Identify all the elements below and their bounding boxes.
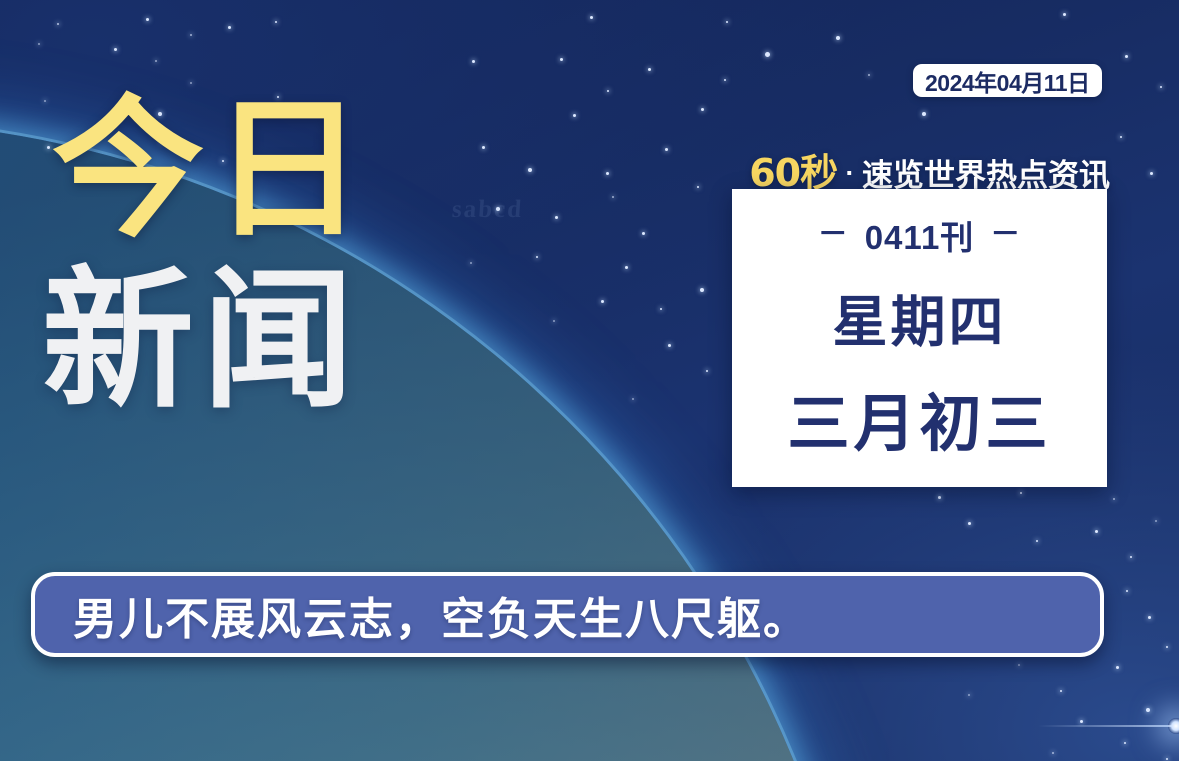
date-info-card: － 0411刊 － 星期四 三月初三 xyxy=(732,189,1107,487)
issue-dash-right: － xyxy=(990,220,1021,250)
brand-title-line-1: 今日 xyxy=(52,96,372,245)
poster-canvas: sabcd 今日 新闻 2024年04月11日 60秒 · 速览世界热点资讯 －… xyxy=(0,0,1179,761)
tagline-subtitle: 速览世界热点资讯 xyxy=(862,158,1110,193)
tagline-separator: · xyxy=(846,158,855,188)
quote-text: 男儿不展风云志，空负天生八尺躯。 xyxy=(73,583,809,647)
lunar-date-label: 三月初三 xyxy=(787,373,1051,463)
brand-title: 今日 新闻 xyxy=(52,96,372,416)
quote-bar: 男儿不展风云志，空负天生八尺躯。 xyxy=(31,572,1104,657)
date-badge-label: 2024年04月11日 xyxy=(925,64,1090,98)
issue-row: － 0411刊 － xyxy=(818,211,1022,259)
brand-title-line-2: 新闻 xyxy=(42,267,372,416)
weekday-label: 星期四 xyxy=(832,277,1006,357)
issue-number: 0411刊 xyxy=(865,211,975,259)
date-badge: 2024年04月11日 xyxy=(913,64,1102,97)
issue-dash-left: － xyxy=(818,220,849,250)
